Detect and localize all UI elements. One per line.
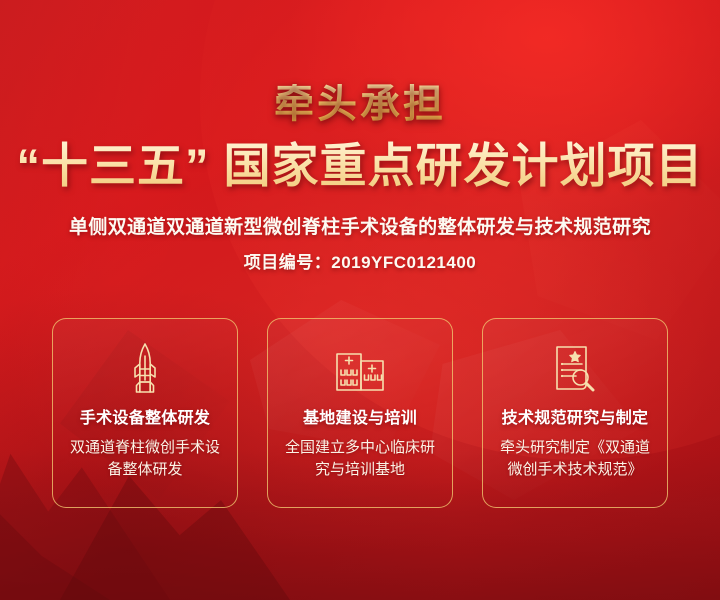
feature-card[interactable]: 手术设备整体研发 双通道脊柱微创手术设备整体研发 <box>52 318 238 508</box>
banner-subtitle: 单侧双通道双通道新型微创脊柱手术设备的整体研发与技术规范研究 <box>0 212 720 239</box>
banner-eyebrow: 牵头承担 <box>0 84 720 124</box>
promotional-banner: 牵头承担 “十三五” 国家重点研发计划项目 单侧双通道双通道新型微创脊柱手术设备… <box>0 0 720 600</box>
feature-card-list: 手术设备整体研发 双通道脊柱微创手术设备整体研发 基地建设与培 <box>52 318 668 508</box>
banner-project-number: 项目编号：2019YFC0121400 <box>0 248 720 273</box>
feature-card-desc: 全国建立多中心临床研究与培训基地 <box>278 437 442 481</box>
feature-card-desc: 双通道脊柱微创手术设备整体研发 <box>63 437 227 481</box>
hospital-building-icon <box>332 341 388 397</box>
rocket-icon <box>117 341 173 397</box>
document-magnifier-icon <box>547 341 603 397</box>
feature-card-title: 基地建设与培训 <box>303 409 417 428</box>
feature-card-desc: 牵头研究制定《双通道微创手术技术规范》 <box>493 437 657 481</box>
banner-content: 牵头承担 “十三五” 国家重点研发计划项目 单侧双通道双通道新型微创脊柱手术设备… <box>0 0 720 600</box>
feature-card[interactable]: 基地建设与培训 全国建立多中心临床研究与培训基地 <box>267 318 453 508</box>
banner-headline: “十三五” 国家重点研发计划项目 <box>0 140 720 192</box>
feature-card[interactable]: 技术规范研究与制定 牵头研究制定《双通道微创手术技术规范》 <box>482 318 668 508</box>
feature-card-title: 手术设备整体研发 <box>80 409 210 428</box>
feature-card-title: 技术规范研究与制定 <box>502 409 649 428</box>
